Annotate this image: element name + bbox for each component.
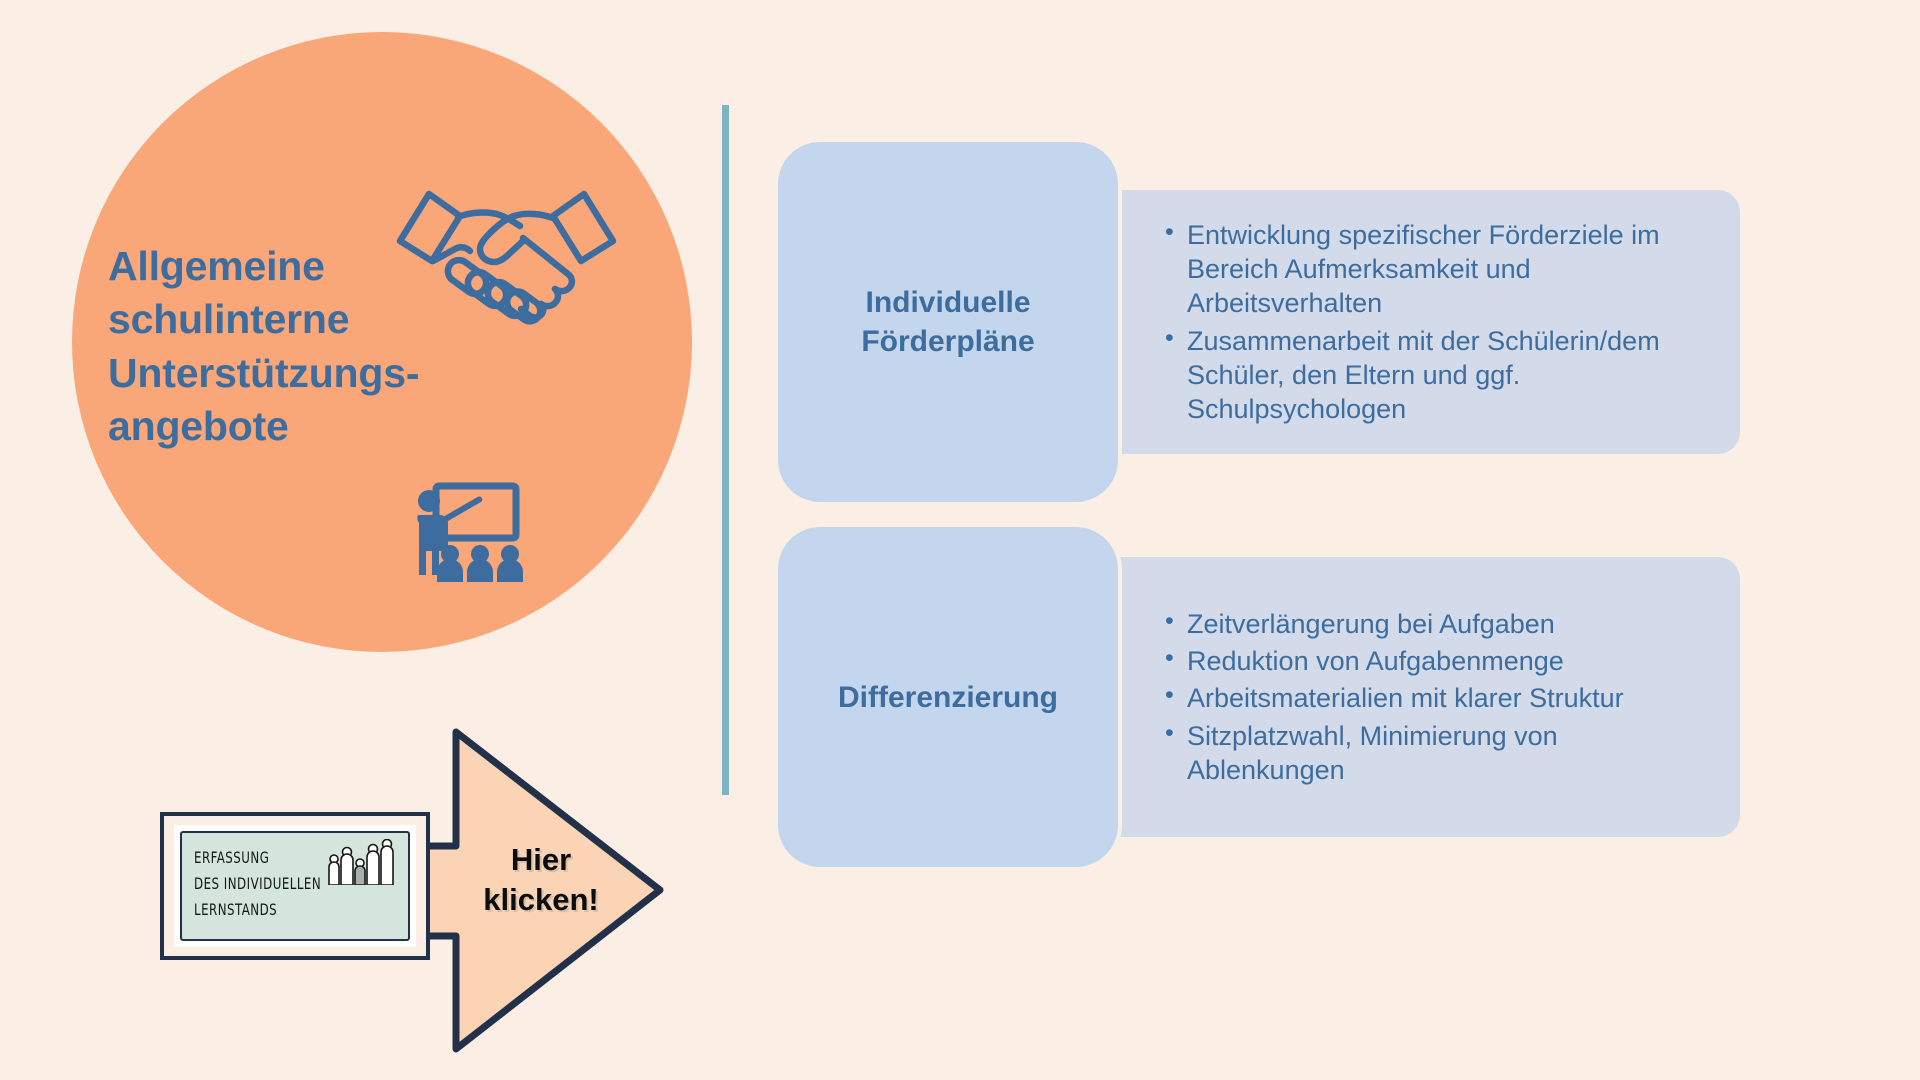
card-line-1: ERFASSUNG [194, 845, 269, 871]
list-item: Sitzplatzwahl, Minimierung von Ablenkung… [1163, 719, 1712, 788]
row-label-text: Differenzierung [822, 678, 1074, 717]
teacher-classroom-icon [404, 482, 524, 582]
content-row-foerderplaene: Entwicklung spezifischer Förderziele im … [778, 142, 1740, 502]
list-item: Entwicklung spezifischer Förderziele im … [1163, 218, 1712, 321]
handshake-icon [392, 178, 622, 328]
lernstand-card[interactable]: ERFASSUNG DES INDIVIDUELLEN LERNSTANDS [160, 812, 430, 960]
row-bullets-panel: Zeitverlängerung bei Aufgaben Reduktion … [1108, 557, 1740, 837]
list-item: Arbeitsmaterialien mit klarer Struktur [1163, 681, 1712, 715]
group-of-people-icon [326, 839, 400, 885]
card-line-2: DES INDIVIDUELLEN [194, 871, 321, 897]
list-item: Zusammenarbeit mit der Schülerin/dem Sch… [1163, 324, 1712, 427]
card-sheet: ERFASSUNG DES INDIVIDUELLEN LERNSTANDS [180, 831, 410, 941]
card-inner: ERFASSUNG DES INDIVIDUELLEN LERNSTANDS [174, 825, 416, 947]
row-label-card[interactable]: Individuelle Förderpläne [778, 142, 1118, 502]
card-line-3: LERNSTANDS [194, 897, 277, 923]
bullet-list: Zeitverlängerung bei Aufgaben Reduktion … [1163, 607, 1712, 787]
bullet-list: Entwicklung spezifischer Förderziele im … [1163, 218, 1712, 427]
row-label-text: Individuelle Förderpläne [778, 283, 1118, 361]
list-item: Reduktion von Aufgabenmenge [1163, 644, 1712, 678]
arrow-label-line2: klicken! [466, 880, 616, 920]
row-label-card[interactable]: Differenzierung [778, 527, 1118, 867]
slide-canvas: Allgemeine schulinterne Unterstützungs-a… [0, 0, 1920, 1080]
list-item: Zeitverlängerung bei Aufgaben [1163, 607, 1712, 641]
vertical-divider [722, 105, 729, 795]
arrow-label[interactable]: Hier klicken! [466, 840, 616, 919]
content-row-differenzierung: Zeitverlängerung bei Aufgaben Reduktion … [778, 527, 1740, 867]
arrow-label-line1: Hier [466, 840, 616, 880]
row-bullets-panel: Entwicklung spezifischer Förderziele im … [1108, 190, 1740, 454]
